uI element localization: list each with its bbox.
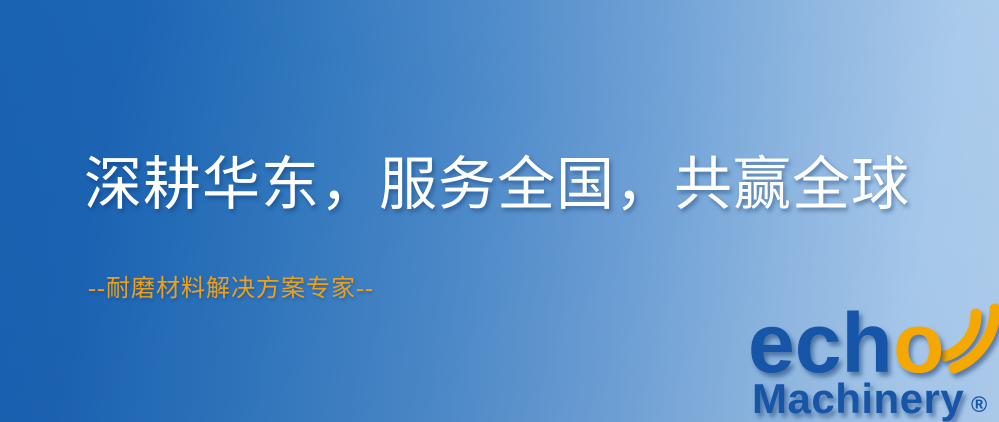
echo-machinery-logo[interactable]: ech o Machinery ® [748, 296, 999, 422]
banner-headline: 深耕华东，服务全国，共赢全球 [84, 155, 910, 216]
signal-waves-icon [945, 309, 995, 368]
registered-trademark-icon: ® [971, 392, 987, 417]
hero-banner: 深耕华东，服务全国，共赢全球 --耐磨材料解决方案专家-- ech o Mach… [0, 0, 999, 422]
logo-tagline: Machinery [752, 375, 964, 422]
logo-artwork: ech o Machinery ® [748, 296, 999, 422]
banner-subtitle: --耐磨材料解决方案专家-- [88, 268, 374, 303]
